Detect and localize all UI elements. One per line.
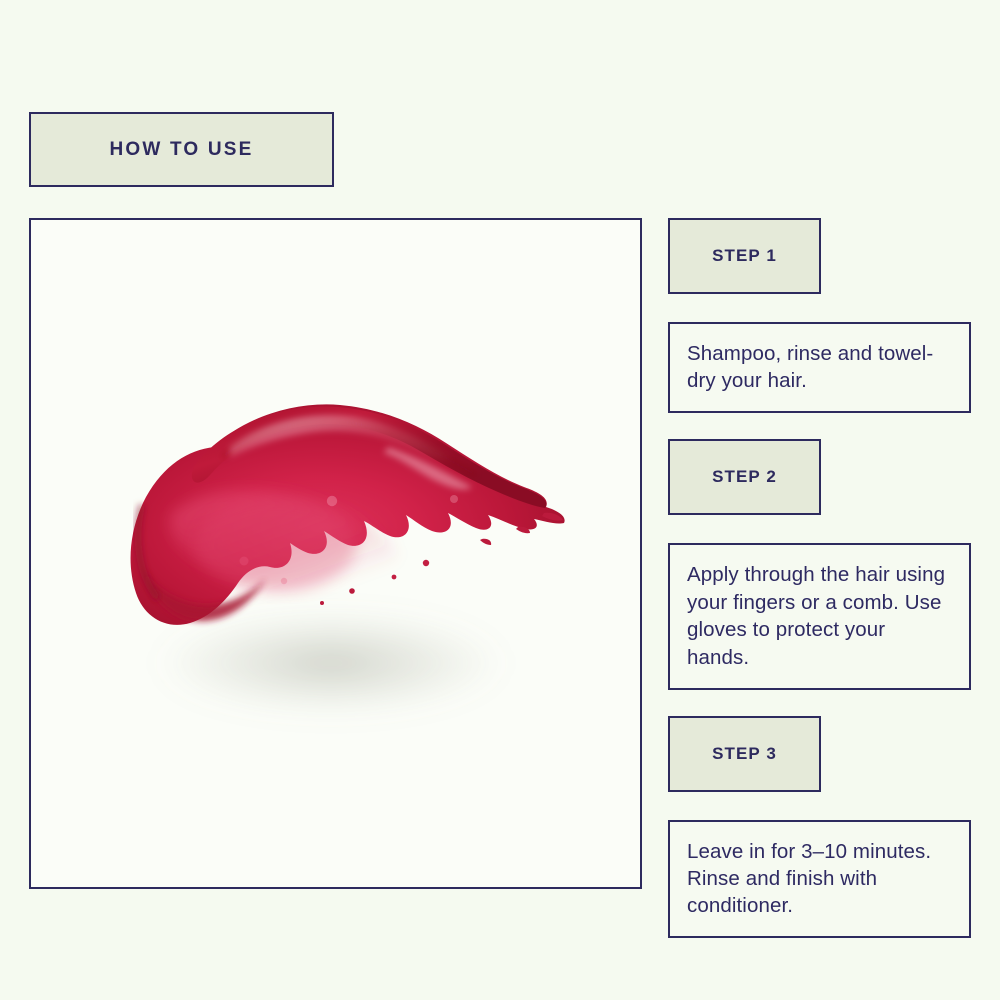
steps-column: STEP 1 Shampoo, rinse and towel-dry your… — [668, 218, 971, 964]
step-3-header: STEP 3 — [668, 716, 821, 792]
step-2-text: Apply through the hair using your finger… — [687, 561, 952, 671]
swatch-speck — [349, 588, 355, 594]
swatch-bubble — [327, 496, 337, 506]
how-to-use-header-box: HOW TO USE — [29, 112, 334, 187]
swatch-bubble — [281, 578, 287, 584]
swatch-speck — [423, 560, 429, 566]
swatch-bubble — [240, 557, 249, 566]
step-1-label: STEP 1 — [712, 246, 777, 266]
step-2-body: Apply through the hair using your finger… — [668, 543, 971, 690]
swatch-speck — [320, 601, 324, 605]
step-3-label: STEP 3 — [712, 744, 777, 764]
how-to-use-title: HOW TO USE — [109, 139, 253, 161]
product-image-frame — [29, 218, 642, 889]
cream-swatch-graphic — [126, 395, 586, 720]
swatch-shadow — [156, 611, 506, 715]
step-2-label: STEP 2 — [712, 467, 777, 487]
swatch-speck — [392, 575, 397, 580]
swatch-bubble — [450, 495, 458, 503]
swatch-light-patch — [196, 499, 356, 591]
how-to-use-panel: HOW TO USE — [0, 0, 1000, 1000]
cream-swatch-image — [126, 395, 586, 720]
step-3-text: Leave in for 3–10 minutes. Rinse and fin… — [687, 838, 952, 919]
step-1-text: Shampoo, rinse and towel-dry your hair. — [687, 340, 952, 394]
step-1-body: Shampoo, rinse and towel-dry your hair. — [668, 322, 971, 413]
step-2-header: STEP 2 — [668, 439, 821, 515]
step-1-header: STEP 1 — [668, 218, 821, 294]
swatch-stage — [31, 220, 640, 887]
step-3-body: Leave in for 3–10 minutes. Rinse and fin… — [668, 820, 971, 938]
